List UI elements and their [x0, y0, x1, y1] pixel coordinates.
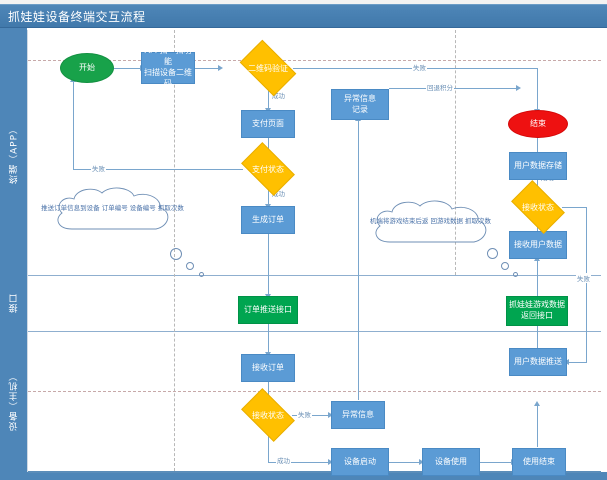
- annotation-cloud-left-text: 推送订单信息到设备 订单编号 设备编号 抓取次数: [50, 185, 175, 233]
- node-use-end[interactable]: 使用结束: [512, 448, 566, 476]
- edge-label-pay-fail: 失败: [91, 163, 106, 173]
- edge-scan-to-qr: [194, 68, 219, 69]
- annotation-cloud-right: 机端将游戏结束后返 回游戏数据 抓取次数: [368, 198, 493, 258]
- node-recv-status-2[interactable]: 接收状态: [515, 192, 561, 222]
- node-game-data-api[interactable]: 抓娃娃游戏数据 返回接口: [506, 296, 568, 326]
- edge-gameapi-to-recvuser: [537, 260, 538, 296]
- node-receive-order[interactable]: 接收订单: [241, 354, 295, 382]
- edge-arrow-useend-to-push: [534, 401, 540, 406]
- edge-label-recv2-fail: 失败: [576, 273, 591, 283]
- edge-useend-to-push: [537, 405, 538, 447]
- edge-label-recv-success: 成功: [276, 455, 291, 465]
- page-title: 抓娃娃设备终端交互流程: [8, 8, 146, 25]
- annotation-bubble-right-3: [513, 272, 518, 277]
- annotation-bubble-right-2: [501, 262, 509, 270]
- edge-status2-fail-down: [586, 207, 587, 362]
- guide-dash-horizontal-1: [28, 60, 601, 61]
- node-receive-status[interactable]: 接收状态: [245, 400, 291, 430]
- node-user-data-store[interactable]: 用户数据存储: [509, 152, 567, 180]
- edge-deviceuse-to-useend: [480, 462, 512, 463]
- edge-qr-fail-down: [537, 68, 538, 110]
- edge-arrow-scan-to-qr: [218, 65, 223, 71]
- diagram-root: 抓娃娃设备终端交互流程 终端（APP） 接口 设备（主机） 成功 失败: [0, 0, 607, 480]
- annotation-bubble-left-2: [186, 262, 194, 270]
- edge-createorder-to-pushapi: [268, 234, 269, 296]
- node-pay-status-label: 支付状态: [231, 154, 305, 184]
- node-start[interactable]: 开始: [60, 53, 114, 83]
- node-device-use[interactable]: 设备使用: [422, 448, 480, 476]
- node-receive-status-label: 接收状态: [231, 400, 305, 430]
- lane-label-terminal: 终端（APP）: [2, 32, 26, 275]
- edge-label-qr-fail: 失败: [412, 62, 427, 72]
- lane-label-device: 设备（主机）: [2, 331, 26, 472]
- guide-dash-horizontal-2: [28, 391, 601, 392]
- node-scan[interactable]: APP扫一扫功能 扫描设备二维码: [141, 52, 195, 84]
- flow-canvas: 成功 失败 失败 成功 失败 成功: [27, 30, 601, 472]
- node-recv-status-2-label: 接收状态: [501, 192, 575, 222]
- annotation-bubble-left-3: [199, 272, 204, 277]
- node-qr-verify-label: 二维码验证: [230, 52, 306, 84]
- edge-status2-fail-left: [568, 362, 587, 363]
- title-bar: 抓娃娃设备终端交互流程: [0, 4, 607, 28]
- edge-devicestart-to-deviceuse: [389, 462, 420, 463]
- edge-start-to-scan: [114, 68, 141, 69]
- node-order-push-api[interactable]: 订单推送接口: [238, 296, 298, 324]
- node-pay-status[interactable]: 支付状态: [245, 154, 291, 184]
- node-error-record[interactable]: 异常信息 记录: [331, 89, 389, 120]
- node-create-order[interactable]: 生成订单: [241, 206, 295, 234]
- node-qr-verify[interactable]: 二维码验证: [244, 52, 292, 84]
- node-device-start[interactable]: 设备启动: [331, 448, 389, 476]
- annotation-bubble-right-1: [487, 248, 498, 259]
- lane-divider-2: [28, 331, 601, 332]
- edge-arrow-record-to-end: [516, 85, 521, 91]
- annotation-cloud-right-text: 机端将游戏结束后返 回游戏数据 抓取次数: [368, 198, 493, 246]
- node-pay-page[interactable]: 支付页面: [241, 110, 295, 138]
- window-right-strip: [600, 28, 607, 472]
- node-user-data-push[interactable]: 用户数据推送: [509, 348, 567, 376]
- edge-label-refund-points: 回退积分: [426, 82, 454, 92]
- annotation-bubble-left-1: [170, 248, 182, 260]
- annotation-cloud-left: 推送订单信息到设备 订单编号 设备编号 抓取次数: [50, 185, 175, 245]
- edge-paystatus-fail-up: [73, 82, 74, 169]
- node-end[interactable]: 结束: [508, 110, 568, 138]
- edge-pushapi-to-receiveorder: [268, 324, 269, 354]
- node-receive-userdata[interactable]: 接收用户数据: [509, 231, 567, 259]
- node-error-info[interactable]: 异常信息: [331, 401, 385, 429]
- edge-error-to-record: [358, 120, 359, 400]
- lane-label-interface: 接口: [2, 275, 26, 331]
